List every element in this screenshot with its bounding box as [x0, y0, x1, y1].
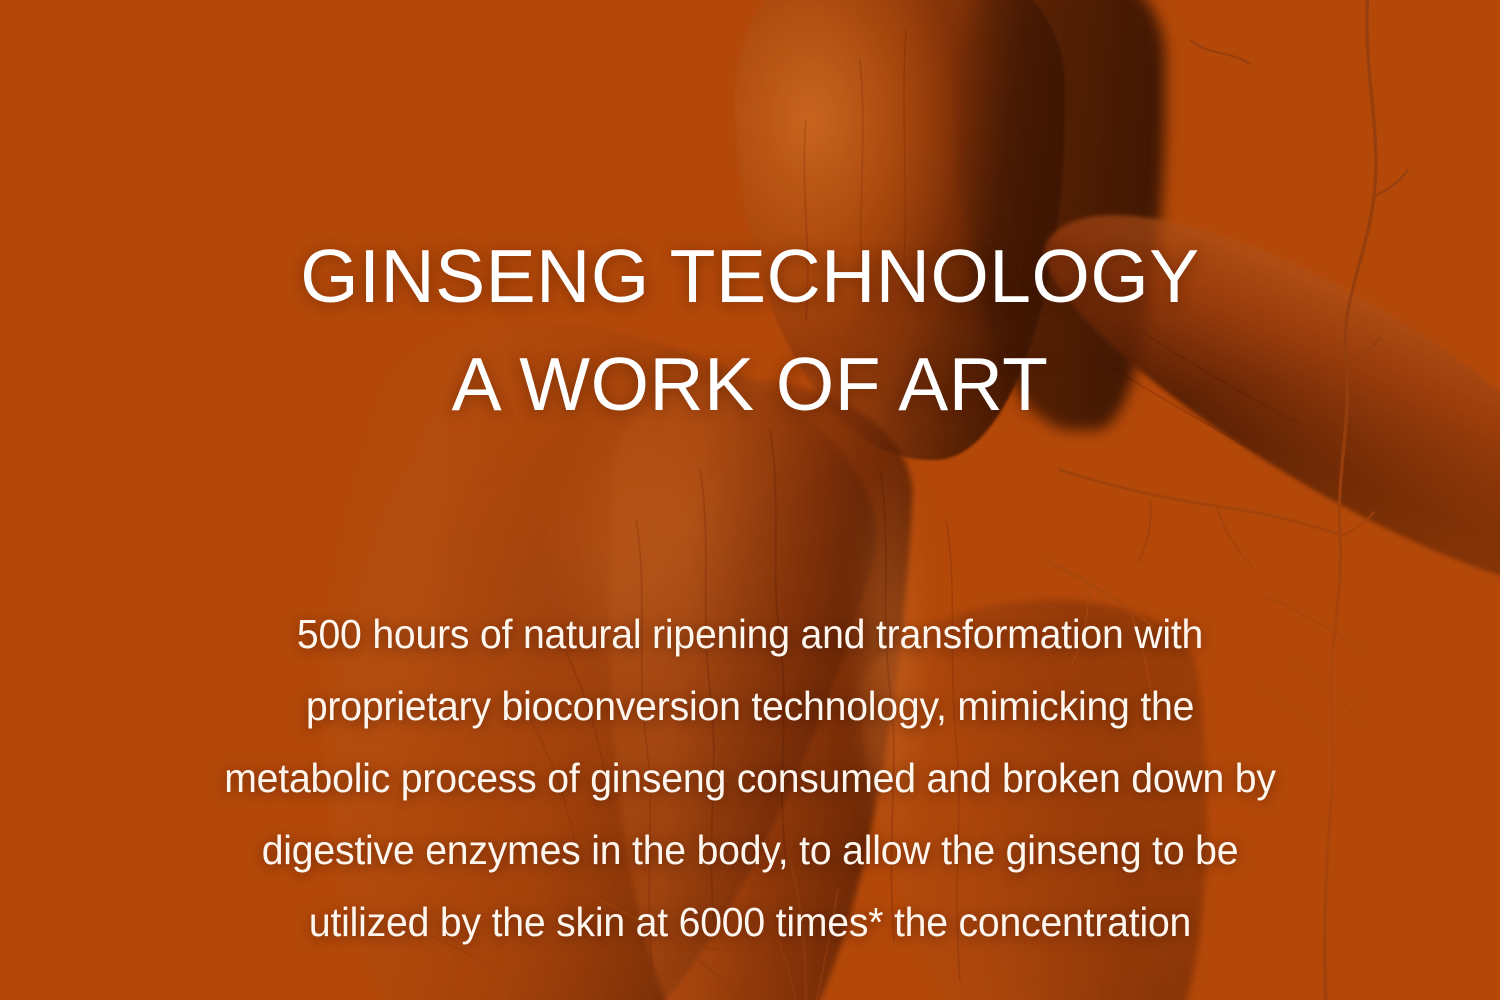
body-line-3: metabolic process of ginseng consumed an… [91, 742, 1409, 814]
banner-content: GINSENG TECHNOLOGY A WORK OF ART 500 hou… [0, 0, 1500, 1000]
headline-line-2: A WORK OF ART [0, 330, 1500, 438]
headline-line-1: GINSENG TECHNOLOGY [0, 222, 1500, 330]
body-line-2: proprietary bioconversion technology, mi… [91, 670, 1409, 742]
body-line-5: utilized by the skin at 6000 times* the … [91, 886, 1409, 958]
body-line-1: 500 hours of natural ripening and transf… [91, 598, 1409, 670]
body-description: 500 hours of natural ripening and transf… [60, 598, 1440, 958]
body-line-4: digestive enzymes in the body, to allow … [91, 814, 1409, 886]
headline: GINSENG TECHNOLOGY A WORK OF ART [0, 222, 1500, 438]
ginseng-technology-banner: GINSENG TECHNOLOGY A WORK OF ART 500 hou… [0, 0, 1500, 1000]
